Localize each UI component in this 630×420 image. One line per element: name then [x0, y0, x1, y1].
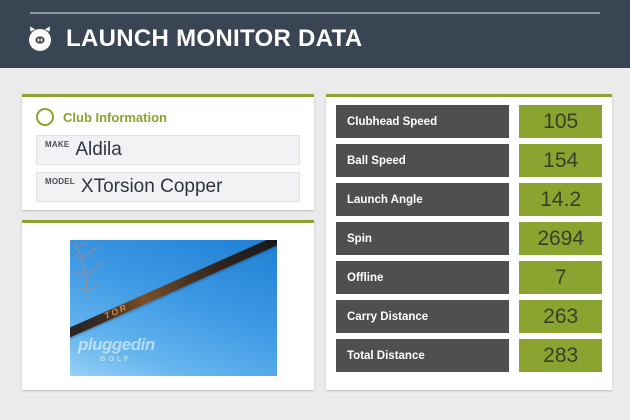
club-photo-panel: TOR pluggedin GOLF [22, 220, 314, 390]
club-information-header: Club Information [36, 106, 167, 128]
metric-value: 7 [519, 261, 602, 294]
club-information-panel: Club Information MAKE Aldila MODEL XTors… [22, 94, 314, 210]
metric-value: 263 [519, 300, 602, 333]
club-model-field: MODEL XTorsion Copper [36, 172, 300, 202]
circle-outline-icon [36, 108, 54, 126]
metric-label: Carry Distance [336, 300, 509, 333]
shaft-brand-text: TOR [103, 303, 129, 321]
metric-label: Spin [336, 222, 509, 255]
metric-label: Clubhead Speed [336, 105, 509, 138]
metric-label: Ball Speed [336, 144, 509, 177]
page-content: Club Information MAKE Aldila MODEL XTors… [0, 68, 630, 420]
metric-row-ball-speed: Ball Speed 154 [336, 144, 602, 177]
metric-row-offline: Offline 7 [336, 261, 602, 294]
club-make-field: MAKE Aldila [36, 135, 300, 165]
club-photo-image: TOR pluggedin GOLF [70, 240, 277, 376]
club-make-label: MAKE [37, 140, 75, 149]
metric-value: 154 [519, 144, 602, 177]
photo-watermark: pluggedin GOLF [78, 337, 155, 368]
launch-monitor-metrics-panel: Clubhead Speed 105 Ball Speed 154 Launch… [326, 94, 612, 390]
metric-value: 14.2 [519, 183, 602, 216]
photo-watermark-sub: GOLF [100, 352, 155, 368]
pig-face-icon [26, 25, 54, 53]
metric-value: 2694 [519, 222, 602, 255]
metric-row-carry-distance: Carry Distance 263 [336, 300, 602, 333]
header-divider [30, 12, 600, 14]
club-information-title: Club Information [63, 110, 167, 125]
club-make-value: Aldila [75, 136, 121, 164]
metric-row-total-distance: Total Distance 283 [336, 339, 602, 372]
club-model-label: MODEL [37, 177, 81, 186]
metric-row-spin: Spin 2694 [336, 222, 602, 255]
metric-label: Launch Angle [336, 183, 509, 216]
metric-label: Total Distance [336, 339, 509, 372]
metric-row-launch-angle: Launch Angle 14.2 [336, 183, 602, 216]
metric-row-clubhead-speed: Clubhead Speed 105 [336, 105, 602, 138]
club-model-value: XTorsion Copper [81, 173, 223, 201]
app-header: LAUNCH MONITOR DATA [0, 0, 630, 68]
metric-label: Offline [336, 261, 509, 294]
page-title: LAUNCH MONITOR DATA [66, 24, 362, 54]
metric-value: 283 [519, 339, 602, 372]
metric-value: 105 [519, 105, 602, 138]
tree-branch-decoration [72, 242, 116, 304]
